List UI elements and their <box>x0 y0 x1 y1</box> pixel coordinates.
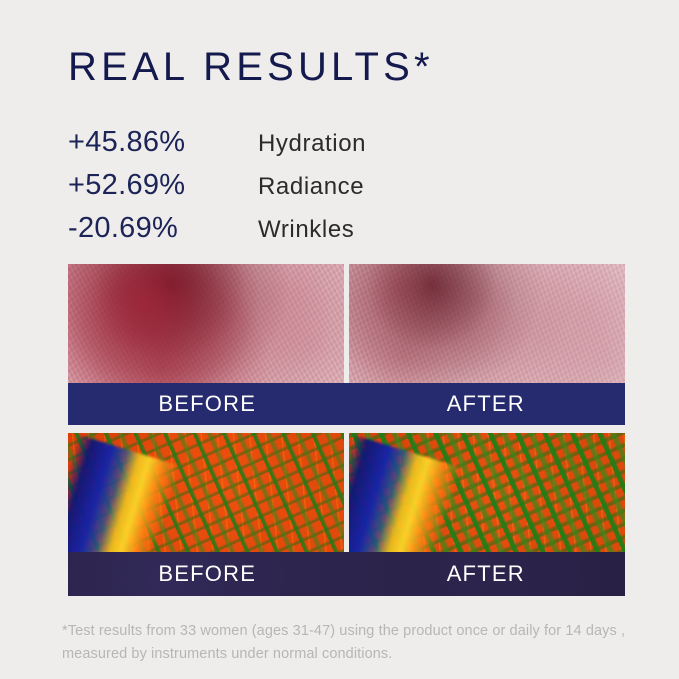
skin-after-image <box>349 264 625 383</box>
stat-value-radiance: +52.69% <box>68 171 258 200</box>
thermal-before-label: BEFORE <box>68 552 347 596</box>
stat-label-hydration: Hydration <box>258 132 366 156</box>
thermal-after-image <box>349 433 625 552</box>
thermal-before-image <box>68 433 344 552</box>
skin-surface-images <box>68 264 625 383</box>
skin-texture-after <box>349 264 625 383</box>
stat-label-wrinkles: Wrinkles <box>258 218 354 242</box>
wrinkle-thermal-comparison: BEFORE AFTER <box>68 433 625 596</box>
thermal-images <box>68 433 625 552</box>
comparison-panels: BEFORE AFTER BEFORE AFTER <box>68 264 625 596</box>
skin-surface-comparison: BEFORE AFTER <box>68 264 625 425</box>
thermal-after-label: AFTER <box>347 552 626 596</box>
skin-before-image <box>68 264 344 383</box>
stat-row-wrinkles: -20.69% Wrinkles <box>68 214 588 257</box>
skin-caption-band: BEFORE AFTER <box>68 383 625 425</box>
skin-texture-before <box>68 264 344 383</box>
skin-after-label: AFTER <box>347 383 626 425</box>
footnote-disclaimer: *Test results from 33 women (ages 31-47)… <box>62 620 634 667</box>
skin-before-label: BEFORE <box>68 383 347 425</box>
stat-value-hydration: +45.86% <box>68 128 258 157</box>
page-title: REAL RESULTS* <box>68 47 434 87</box>
stat-label-radiance: Radiance <box>258 175 364 199</box>
real-results-panel: REAL RESULTS* +45.86% Hydration +52.69% … <box>0 0 679 679</box>
stat-row-hydration: +45.86% Hydration <box>68 128 588 171</box>
stat-row-radiance: +52.69% Radiance <box>68 171 588 214</box>
thermal-caption-band: BEFORE AFTER <box>68 552 625 596</box>
stats-list: +45.86% Hydration +52.69% Radiance -20.6… <box>68 128 588 257</box>
stat-value-wrinkles: -20.69% <box>68 214 258 243</box>
